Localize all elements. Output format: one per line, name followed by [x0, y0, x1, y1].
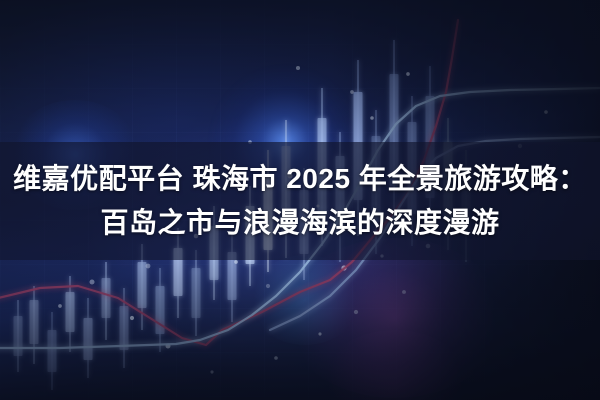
title-line-1: 维嘉优配平台 珠海市 2025 年全景旅游攻略：: [13, 157, 587, 201]
article-banner-image: 维嘉优配平台 珠海市 2025 年全景旅游攻略： 百岛之市与浪漫海滨的深度漫游: [0, 0, 600, 400]
title-line-2: 百岛之市与浪漫海滨的深度漫游: [100, 201, 499, 245]
title-block: 维嘉优配平台 珠海市 2025 年全景旅游攻略： 百岛之市与浪漫海滨的深度漫游: [0, 142, 600, 260]
vignette-top: [0, 0, 600, 150]
